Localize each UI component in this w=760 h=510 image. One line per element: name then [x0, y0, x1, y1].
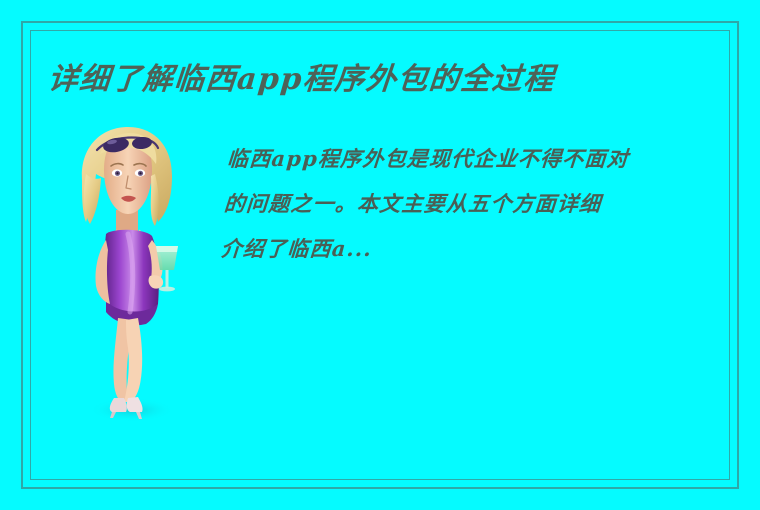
article-card: 详细了解临西app程序外包的全过程 临西app程序外包是现代企业不得不面对 的问…	[0, 0, 760, 510]
article-summary: 临西app程序外包是现代企业不得不面对 的问题之一。本文主要从五个方面详细 介绍…	[219, 136, 742, 271]
page-title: 详细了解临西app程序外包的全过程	[46, 62, 709, 98]
pupil-right	[139, 172, 141, 174]
summary-line: 介绍了临西a...	[219, 226, 736, 271]
summary-line: 临西app程序外包是现代企业不得不面对	[226, 136, 743, 181]
summary-line: 的问题之一。本文主要从五个方面详细	[222, 181, 739, 226]
woman-with-drink-illustration	[60, 118, 192, 426]
pupil-left	[116, 172, 118, 174]
